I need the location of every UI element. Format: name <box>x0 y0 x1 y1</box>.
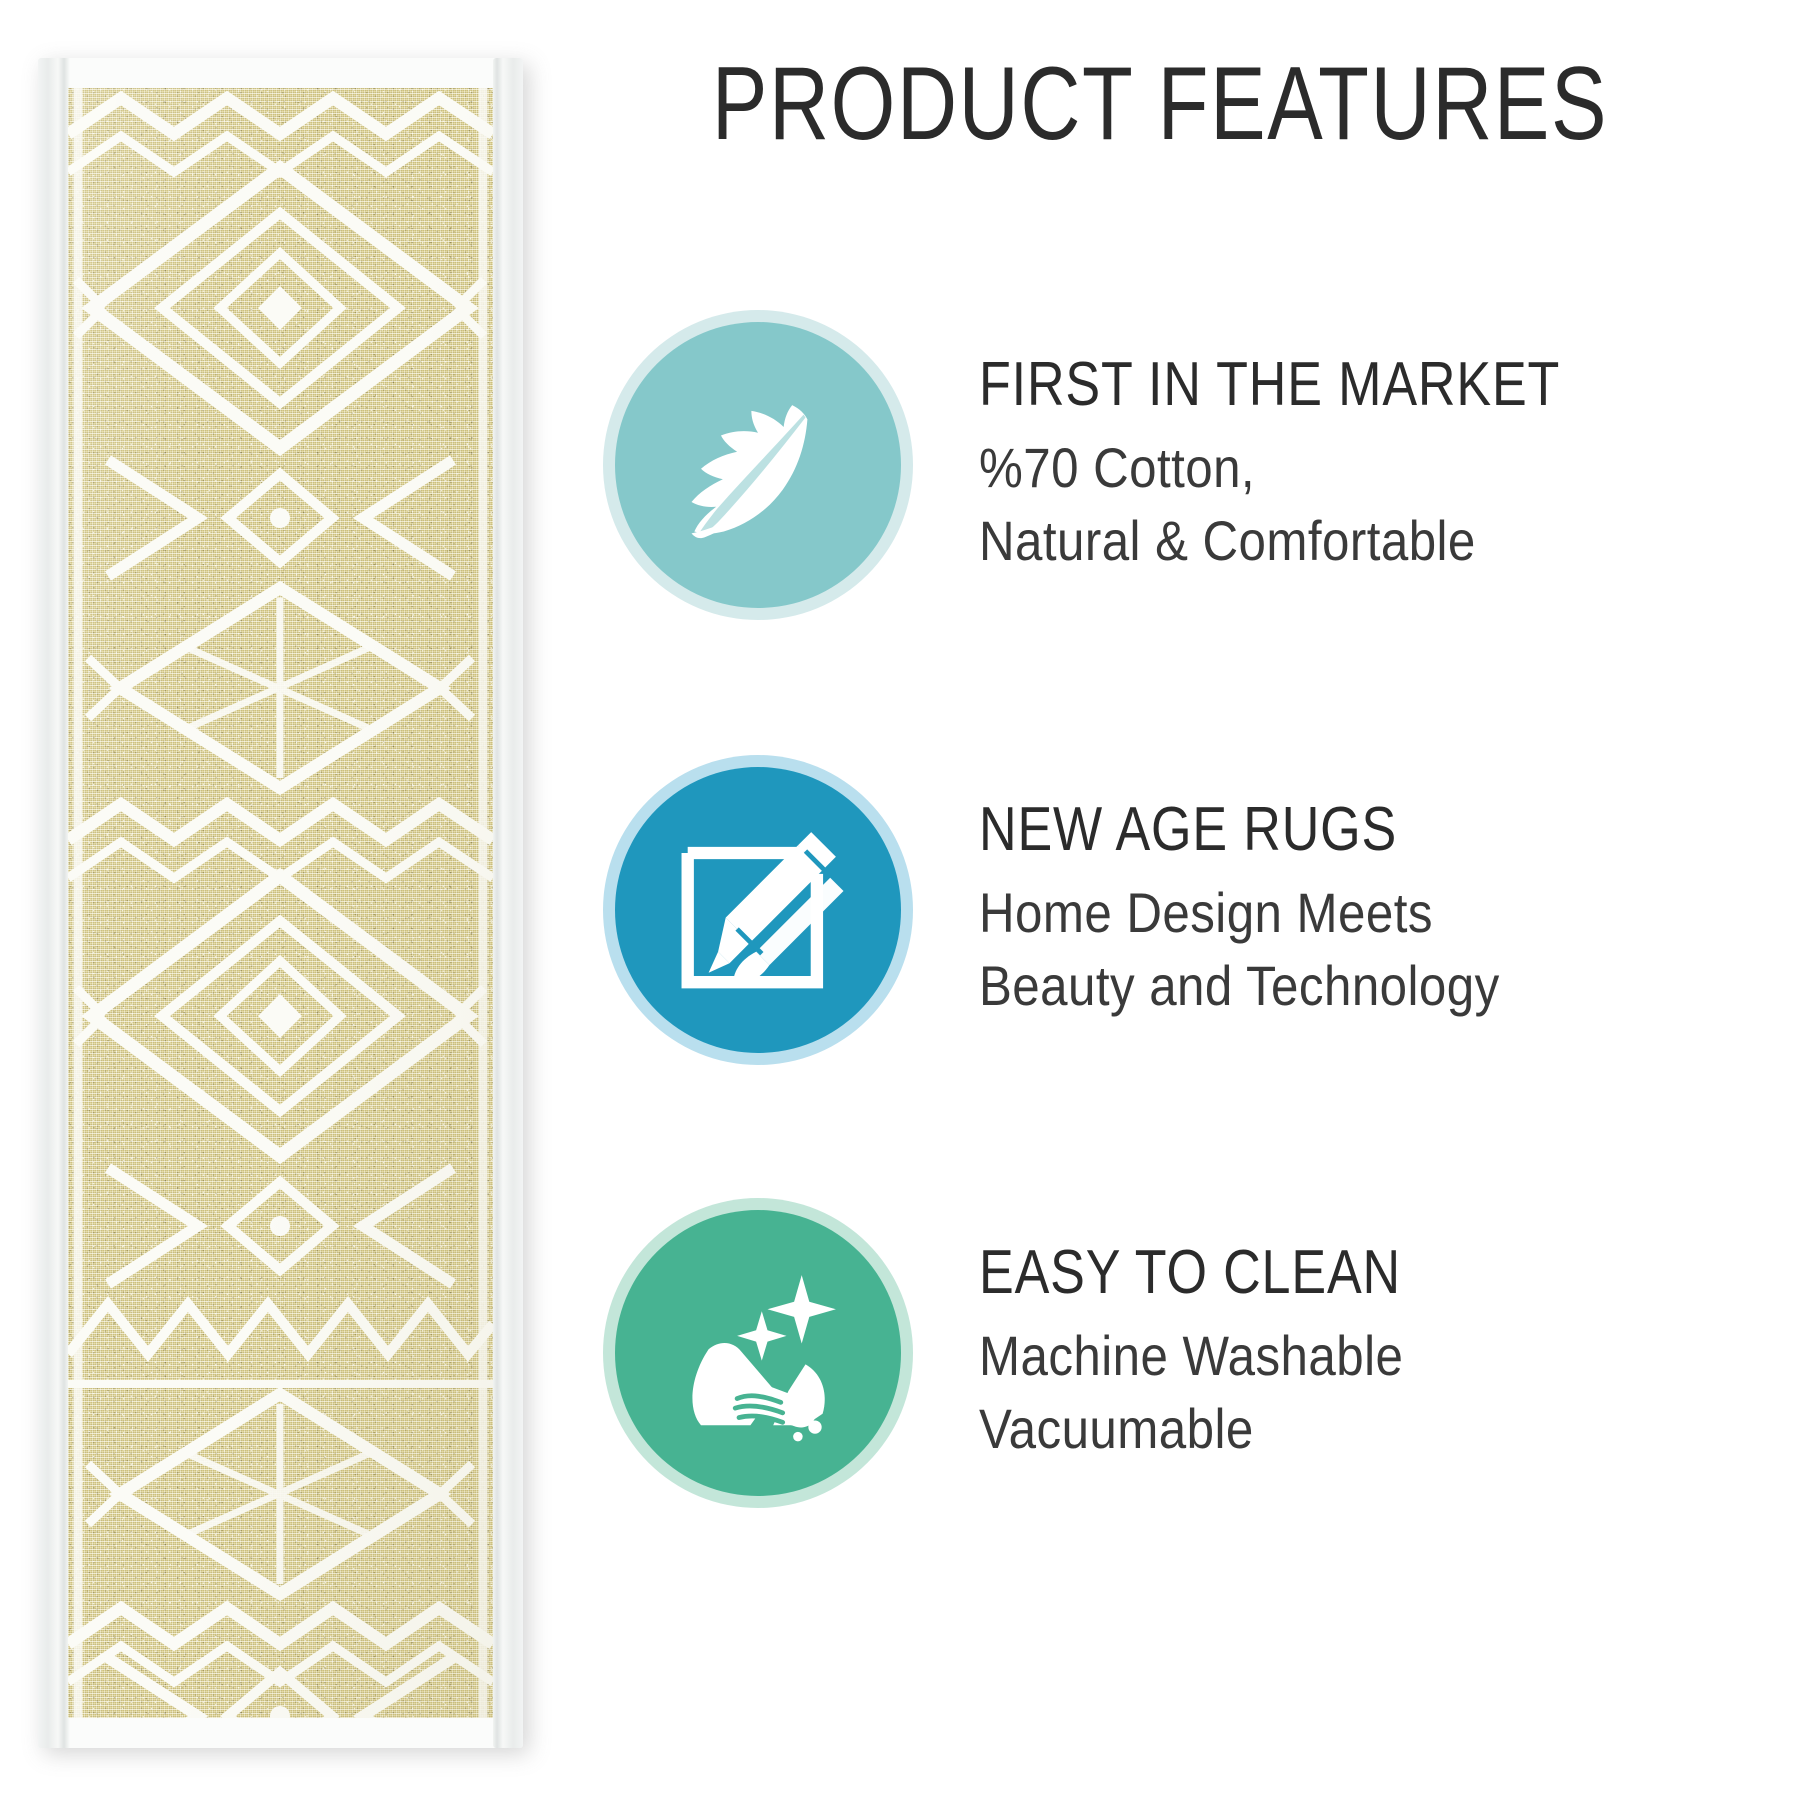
feature-item-new-age-rugs: NEW AGE RUGS Home Design Meets Beauty an… <box>560 735 1800 1085</box>
feature-item-first-in-the-market: FIRST IN THE MARKET %70 Cotton, Natural … <box>560 290 1800 640</box>
feature-line-2: Beauty and Technology <box>979 950 1693 1023</box>
product-rug-image <box>38 58 523 1748</box>
rug-tribal-pattern <box>68 88 493 1718</box>
rug-field <box>68 88 493 1718</box>
infographic-page: PRODUCT FEATURES <box>0 0 1800 1800</box>
feature-heading: FIRST IN THE MARKET <box>979 353 1660 416</box>
feature-icon-badge <box>603 1198 913 1508</box>
feature-icon-badge <box>603 755 913 1065</box>
feather-icon <box>663 370 853 560</box>
hand-cleaning-sparkle-icon <box>663 1258 853 1448</box>
feature-item-easy-to-clean: EASY TO CLEAN Machine Washable Vacuumabl… <box>560 1178 1800 1528</box>
feature-line-2: Natural & Comfortable <box>979 505 1693 578</box>
feature-line-2: Vacuumable <box>979 1393 1693 1466</box>
feature-line-1: Machine Washable <box>979 1320 1693 1393</box>
feature-text: FIRST IN THE MARKET %70 Cotton, Natural … <box>913 353 1800 578</box>
feature-line-1: %70 Cotton, <box>979 432 1693 505</box>
feature-icon-badge <box>603 310 913 620</box>
feature-text: EASY TO CLEAN Machine Washable Vacuumabl… <box>913 1241 1800 1466</box>
feature-line-1: Home Design Meets <box>979 877 1693 950</box>
feature-heading: NEW AGE RUGS <box>979 798 1660 861</box>
features-panel: PRODUCT FEATURES <box>560 0 1800 1800</box>
feature-text: NEW AGE RUGS Home Design Meets Beauty an… <box>913 798 1800 1023</box>
page-title: PRODUCT FEATURES <box>680 52 1640 156</box>
rug-fringe-right <box>493 58 523 1748</box>
design-pen-brush-icon <box>663 815 853 1005</box>
feature-heading: EASY TO CLEAN <box>979 1241 1660 1304</box>
